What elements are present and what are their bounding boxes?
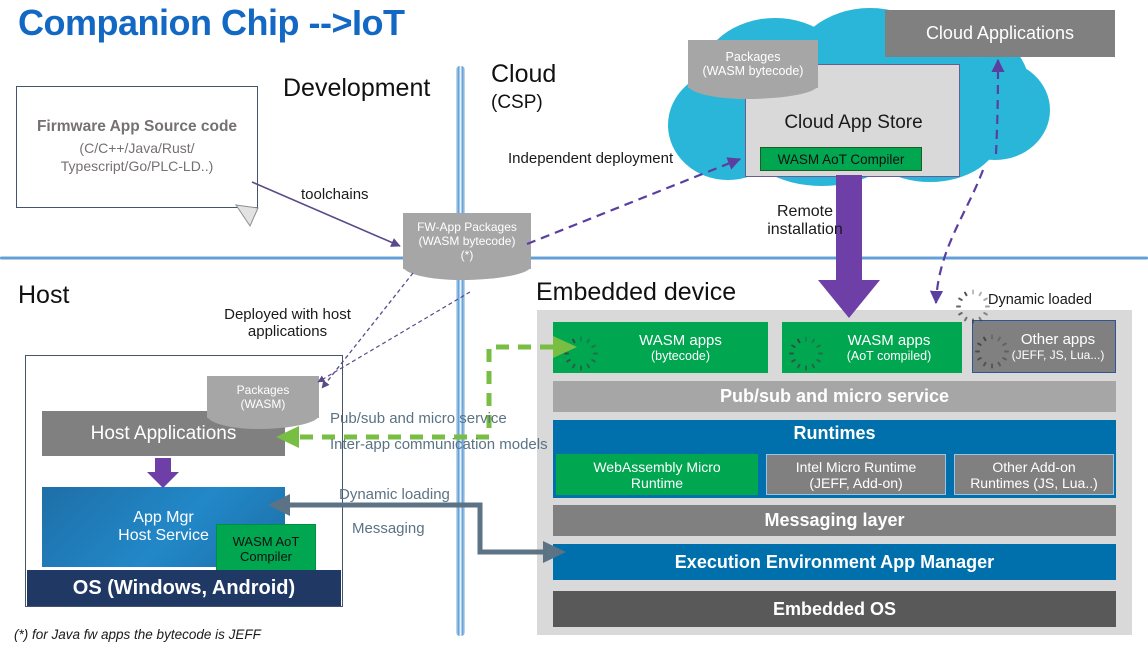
embedded-runtime-1[interactable]: Intel Micro Runtime (JEFF, Add-on) — [766, 454, 946, 495]
spinner-icon — [981, 334, 1003, 356]
embedded-runtime-1-l1: Intel Micro Runtime — [796, 459, 917, 475]
legend-dynamic-loaded: Dynamic loaded — [988, 292, 1092, 308]
firmware-source-box[interactable]: Firmware App Source code (C/C++/Java/Rus… — [16, 86, 258, 208]
page-title: Companion Chip -->IoT — [18, 2, 404, 44]
embedded-app-2-name: Other apps — [1021, 331, 1095, 348]
callout-host-packages: Packages (WASM) — [207, 376, 319, 418]
embedded-runtime-2[interactable]: Other Add-on Runtimes (JS, Lua..) — [954, 454, 1114, 495]
callout-fw-packages-line1: FW-App Packages — [417, 220, 517, 234]
spinner-icon — [794, 335, 818, 359]
embedded-runtime-2-l1: Other Add-on — [992, 459, 1075, 475]
diagram-canvas: Companion Chip -->IoT Development Cloud … — [0, 0, 1148, 653]
wasm-aot-compiler-host[interactable]: WASM AoT Compiler — [216, 524, 316, 574]
embedded-runtime-1-l2: (JEFF, Add-on) — [809, 475, 902, 491]
section-heading-host: Host — [18, 281, 69, 310]
label-remote-installation-l2: installation — [767, 221, 843, 239]
horizontal-divider — [0, 256, 1148, 260]
label-deployed-l2: applications — [248, 323, 327, 340]
label-toolchains: toolchains — [301, 186, 369, 203]
embedded-app-2[interactable]: Other apps (JEFF, JS, Lua...) — [972, 320, 1116, 373]
embedded-app-0-sub: (bytecode) — [651, 349, 710, 363]
wasm-aot-host-line2: Compiler — [240, 549, 292, 564]
label-dynamic-loading: Dynamic loading — [339, 486, 450, 503]
callout-fw-packages-line3: (*) — [461, 248, 474, 262]
label-deployed-with-host: Deployed with host applications — [200, 306, 375, 340]
embedded-runtime-2-l2: Runtimes (JS, Lua..) — [970, 475, 1098, 491]
callout-fw-packages-line2: (WASM bytecode) — [419, 234, 516, 248]
callout-fw-packages: FW-App Packages (WASM bytecode) (*) — [403, 213, 531, 269]
remote-installation-arrow — [818, 175, 880, 318]
section-heading-cloud: Cloud — [491, 60, 556, 89]
callout-cloud-packages: Packages (WASM bytecode) — [688, 40, 818, 88]
app-mgr-line2: Host Service — [118, 527, 209, 545]
label-messaging: Messaging — [352, 520, 425, 537]
app-mgr-line1: App Mgr — [133, 509, 193, 527]
embedded-app-0[interactable]: WASM apps (bytecode) — [553, 322, 768, 373]
label-interapp-communication: Inter-app communication models — [330, 436, 548, 453]
embedded-app-1-sub: (AoT compiled) — [847, 349, 932, 363]
label-pubsub-micro-service: Pub/sub and micro service — [330, 410, 507, 427]
embedded-app-1-name: WASM apps — [848, 332, 931, 349]
cloud-app-store-title: Cloud App Store — [746, 109, 961, 137]
embedded-messaging-layer[interactable]: Messaging layer — [553, 505, 1116, 536]
firmware-source-line1: (C/C++/Java/Rust/ — [79, 140, 194, 158]
embedded-runtimes-title: Runtimes — [553, 422, 1116, 444]
section-heading-development: Development — [283, 74, 430, 103]
label-independent-deployment: Independent deployment — [508, 150, 673, 167]
callout-cloud-packages-line1: Packages — [726, 50, 781, 64]
section-heading-embedded: Embedded device — [536, 278, 736, 307]
embedded-pubsub-band[interactable]: Pub/sub and micro service — [553, 381, 1116, 412]
label-deployed-l1: Deployed with host — [224, 306, 351, 323]
vertical-divider — [456, 66, 465, 636]
wasm-aot-compiler-cloud[interactable]: WASM AoT Compiler — [760, 147, 922, 171]
callout-cloud-packages-line2: (WASM bytecode) — [703, 64, 804, 78]
label-remote-installation-l1: Remote — [777, 203, 833, 221]
footnote: (*) for Java fw apps the bytecode is JEF… — [14, 627, 261, 642]
callout-host-packages-line1: Packages — [237, 383, 290, 397]
firmware-source-heading: Firmware App Source code — [37, 118, 237, 136]
spinner-icon-legend — [961, 288, 985, 312]
firmware-source-line2: Typescript/Go/PLC-LD..) — [61, 158, 214, 176]
section-heading-cloud-sub: (CSP) — [491, 92, 543, 114]
embedded-app-2-sub: (JEFF, JS, Lua...) — [1012, 348, 1105, 362]
label-remote-installation: Remote installation — [757, 203, 853, 239]
cloud-applications-box[interactable]: Cloud Applications — [885, 10, 1115, 57]
spinner-icon — [569, 335, 593, 359]
embedded-app-1[interactable]: WASM apps (AoT compiled) — [782, 322, 962, 373]
wasm-aot-host-line1: WASM AoT — [233, 534, 300, 549]
host-os-box[interactable]: OS (Windows, Android) — [27, 570, 341, 606]
embedded-runtime-0-l1: WebAssembly Micro — [593, 459, 720, 475]
embedded-runtime-0-l2: Runtime — [631, 475, 683, 491]
callout-host-packages-line2: (WASM) — [241, 397, 286, 411]
embedded-os[interactable]: Embedded OS — [553, 591, 1116, 627]
embedded-app-manager[interactable]: Execution Environment App Manager — [553, 544, 1116, 580]
embedded-runtime-0[interactable]: WebAssembly Micro Runtime — [556, 454, 758, 495]
embedded-app-0-name: WASM apps — [639, 332, 722, 349]
